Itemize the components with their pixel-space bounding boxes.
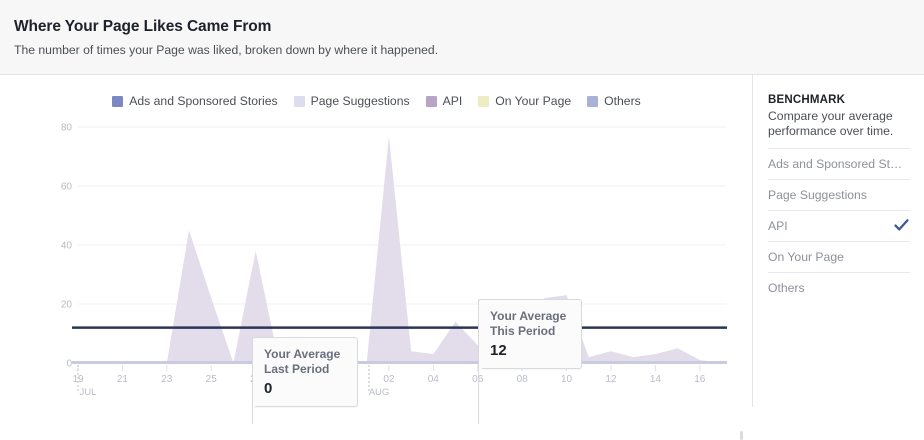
- benchmark-panel: BENCHMARK Compare your average performan…: [754, 75, 924, 407]
- chart-pane: 020406080 192123252729310204060810121416…: [0, 75, 753, 407]
- legend-swatch-on-your-page: [478, 96, 489, 107]
- horizontal-scroll-nub[interactable]: [740, 431, 743, 440]
- tooltip-this-line1: Your Average: [490, 309, 570, 324]
- legend-swatch-ads: [112, 96, 123, 107]
- page-title: Where Your Page Likes Came From: [14, 18, 924, 36]
- area-chart: 020406080 192123252729310204060810121416…: [0, 75, 753, 407]
- x-tick-25: 25: [206, 374, 218, 385]
- check-icon: [894, 218, 909, 233]
- x-tick-21: 21: [117, 374, 129, 385]
- legend-item-3[interactable]: On Your Page: [478, 94, 571, 108]
- benchmark-option-2[interactable]: API: [768, 210, 910, 241]
- card-body: 020406080 192123252729310204060810121416…: [0, 75, 924, 407]
- benchmark-title: BENCHMARK: [768, 93, 910, 107]
- legend-item-4[interactable]: Others: [587, 94, 641, 108]
- benchmark-option-label-1: Page Suggestions: [768, 188, 867, 202]
- y-axis-ticks: 020406080: [61, 123, 73, 370]
- benchmark-subtitle: Compare your average performance over ti…: [768, 109, 910, 139]
- tooltip-last-line1: Your Average: [264, 347, 346, 362]
- benchmark-option-label-2: API: [768, 219, 788, 233]
- tooltip-last-line2: Last Period: [264, 362, 346, 377]
- x-tick-14: 14: [650, 374, 662, 385]
- y-tick-60: 60: [61, 182, 73, 193]
- legend-item-0[interactable]: Ads and Sponsored Stories: [112, 94, 277, 108]
- benchmark-option-3[interactable]: On Your Page: [768, 241, 910, 272]
- x-tick-23: 23: [161, 374, 173, 385]
- tooltip-this-value: 12: [490, 342, 570, 359]
- chart-svg: 020406080 192123252729310204060810121416…: [0, 75, 753, 407]
- legend-item-1[interactable]: Page Suggestions: [294, 94, 410, 108]
- tooltip-this-line2: This Period: [490, 324, 570, 339]
- tooltip-average-this-period: Your Average This Period 12: [478, 299, 582, 369]
- legend-label-0: Ads and Sponsored Stories: [129, 94, 277, 108]
- x-axis-ticks: 192123252729310204060810121416: [72, 365, 705, 385]
- tooltip-this-notch: [479, 362, 488, 372]
- legend-item-2[interactable]: API: [426, 94, 463, 108]
- month-label-jul: JUL: [80, 387, 97, 398]
- y-tick-80: 80: [61, 123, 73, 134]
- legend-label-3: On Your Page: [495, 94, 571, 108]
- legend-label-2: API: [443, 94, 463, 108]
- tooltip-last-notch: [253, 399, 262, 409]
- legend-label-1: Page Suggestions: [311, 94, 410, 108]
- y-tick-40: 40: [61, 241, 73, 252]
- benchmark-option-list: Ads and Sponsored St…Page SuggestionsAPI…: [768, 148, 910, 303]
- page-subtitle: The number of times your Page was liked,…: [14, 43, 924, 58]
- tooltip-average-last-period: Your Average Last Period 0: [252, 337, 358, 407]
- benchmark-option-label-4: Others: [768, 281, 805, 295]
- legend-label-4: Others: [604, 94, 641, 108]
- y-tick-0: 0: [66, 359, 72, 370]
- month-label-aug: AUG: [369, 387, 390, 398]
- x-tick-04: 04: [428, 374, 440, 385]
- area-fill: [78, 136, 722, 363]
- x-tick-08: 08: [517, 374, 529, 385]
- x-tick-12: 12: [605, 374, 617, 385]
- page-likes-sources-card: Where Your Page Likes Came From The numb…: [0, 0, 924, 407]
- benchmark-option-label-3: On Your Page: [768, 250, 844, 264]
- card-header: Where Your Page Likes Came From The numb…: [0, 0, 924, 75]
- legend-swatch-others: [587, 96, 598, 107]
- chart-legend: Ads and Sponsored StoriesPage Suggestion…: [0, 94, 753, 108]
- x-tick-16: 16: [694, 374, 706, 385]
- tooltip-last-stem: [252, 337, 253, 424]
- benchmark-option-label-0: Ads and Sponsored St…: [768, 157, 902, 171]
- benchmark-option-4[interactable]: Others: [768, 272, 910, 303]
- x-tick-10: 10: [561, 374, 573, 385]
- tooltip-last-value: 0: [264, 380, 346, 397]
- legend-swatch-page-suggestions: [294, 96, 305, 107]
- series-area-api: [78, 136, 722, 363]
- x-tick-19: 19: [72, 374, 84, 385]
- legend-swatch-api: [426, 96, 437, 107]
- benchmark-option-0[interactable]: Ads and Sponsored St…: [768, 148, 910, 179]
- benchmark-option-1[interactable]: Page Suggestions: [768, 179, 910, 210]
- x-tick-02: 02: [383, 374, 395, 385]
- y-tick-20: 20: [61, 300, 73, 311]
